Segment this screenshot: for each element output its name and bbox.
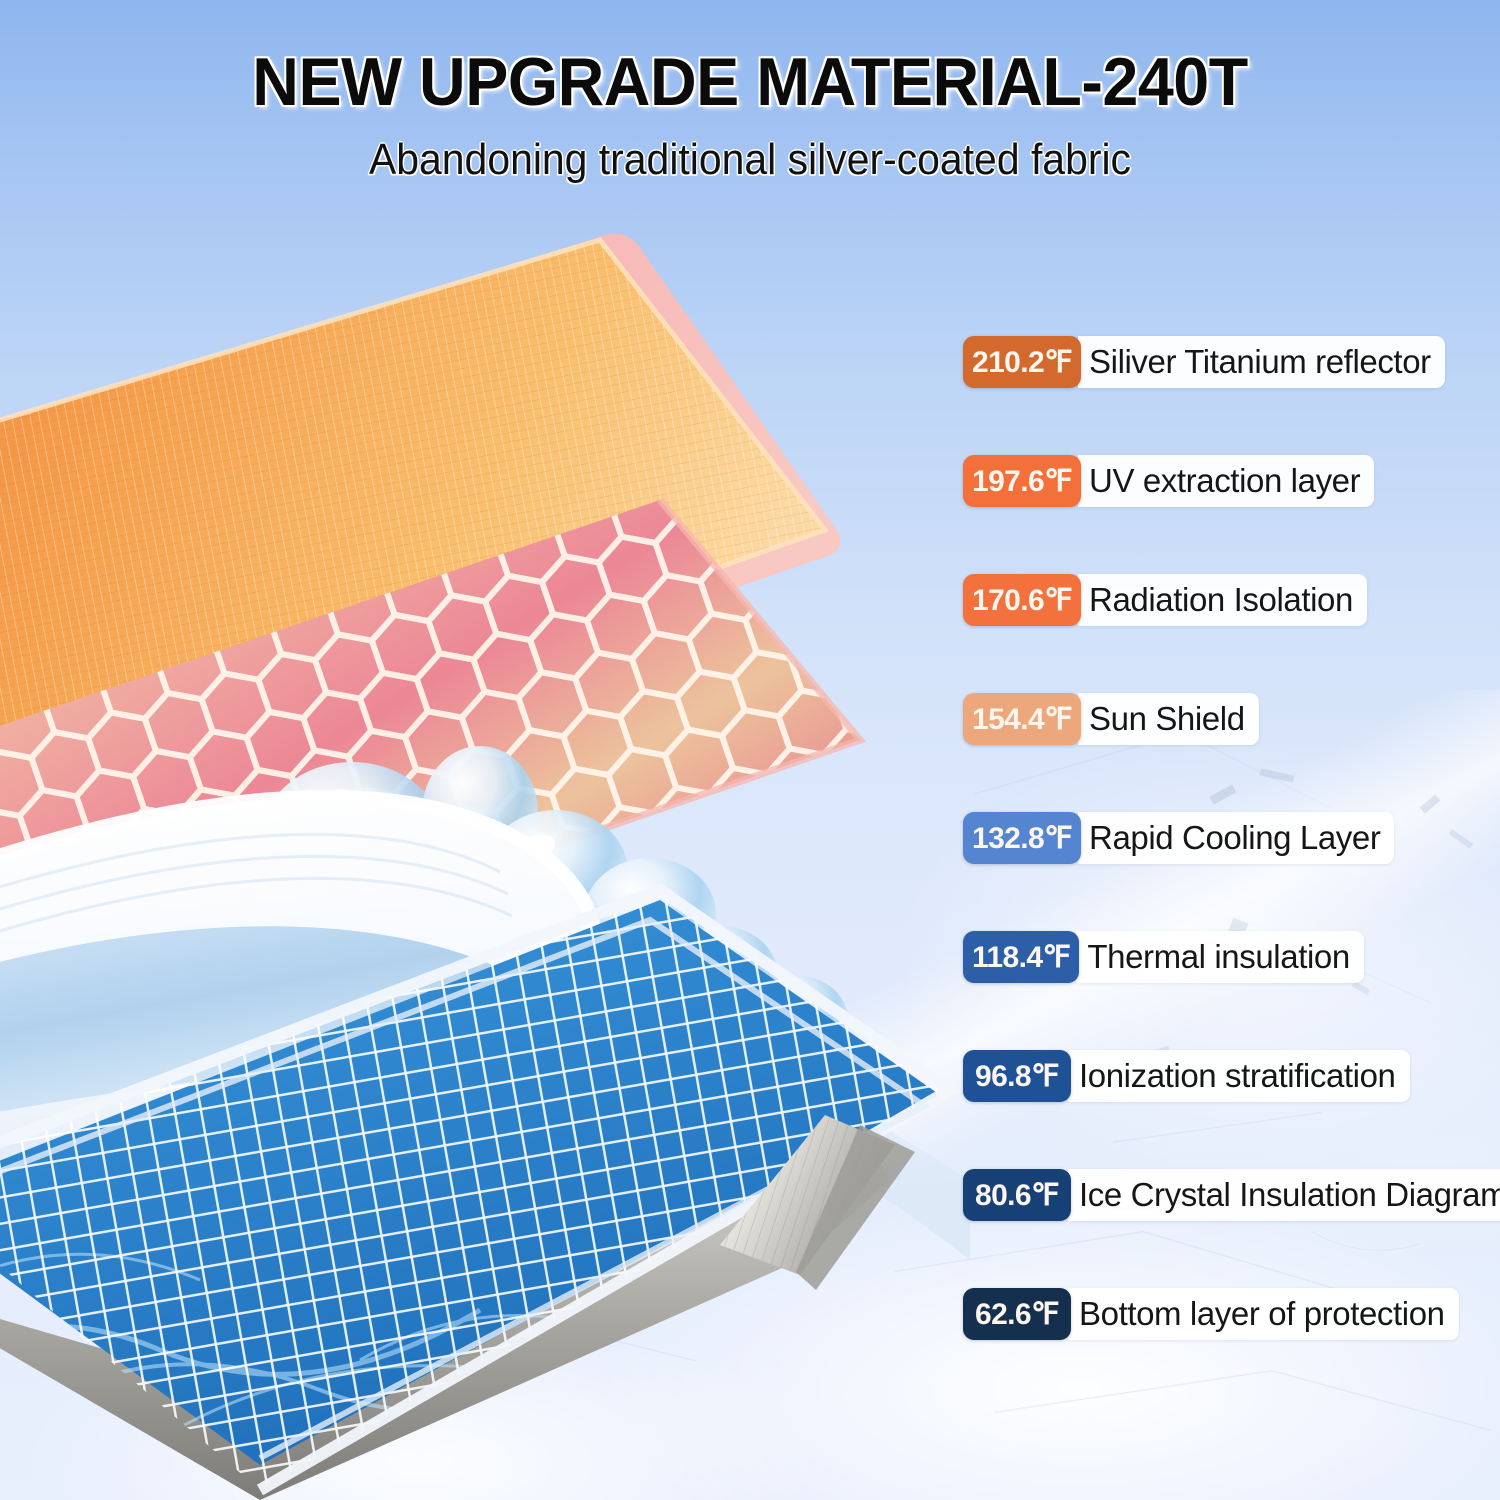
temperature-badge: 210.2℉: [963, 336, 1081, 388]
layer-name-label: UV extraction layer: [1078, 455, 1374, 507]
temperature-badge: 62.6℉: [963, 1288, 1071, 1340]
layer-name-label: Ionization stratification: [1068, 1050, 1410, 1102]
temperature-badge: 170.6℉: [963, 574, 1081, 626]
list-item[interactable]: 210.2℉ Siliver Titanium reflector: [963, 336, 1500, 388]
list-item[interactable]: 170.6℉ Radiation Isolation: [963, 574, 1500, 626]
product-infographic: NEW UPGRADE MATERIAL-240T Abandoning tra…: [0, 0, 1500, 1500]
temperature-badge: 118.4℉: [963, 931, 1079, 983]
list-item[interactable]: 96.8℉ Ionization stratification: [963, 1050, 1500, 1102]
list-item[interactable]: 132.8℉ Rapid Cooling Layer: [963, 812, 1500, 864]
layer-label-list: 210.2℉ Siliver Titanium reflector 197.6℉…: [963, 336, 1500, 1340]
temperature-badge: 96.8℉: [963, 1050, 1071, 1102]
layer-name-label: Rapid Cooling Layer: [1078, 812, 1394, 864]
list-item[interactable]: 62.6℉ Bottom layer of protection: [963, 1288, 1500, 1340]
layer-name-label: Radiation Isolation: [1078, 574, 1367, 626]
layer-name-label: Bottom layer of protection: [1068, 1288, 1459, 1340]
layer-name-label: Sun Shield: [1078, 693, 1259, 745]
page-subtitle: Abandoning traditional silver-coated fab…: [53, 136, 1448, 184]
temperature-badge: 80.6℉: [963, 1169, 1071, 1221]
list-item[interactable]: 80.6℉ Ice Crystal Insulation Diagram: [963, 1169, 1500, 1221]
page-title: NEW UPGRADE MATERIAL-240T: [38, 46, 1463, 118]
temperature-badge: 197.6℉: [963, 455, 1081, 507]
list-item[interactable]: 118.4℉ Thermal insulation: [963, 931, 1500, 983]
list-item[interactable]: 197.6℉ UV extraction layer: [963, 455, 1500, 507]
layer-name-label: Siliver Titanium reflector: [1078, 336, 1445, 388]
temperature-badge: 154.4℉: [963, 693, 1081, 745]
fabric-cross-section-illustration: [0, 200, 970, 1500]
layer-name-label: Thermal insulation: [1076, 931, 1363, 983]
list-item[interactable]: 154.4℉ Sun Shield: [963, 693, 1500, 745]
headline-block: NEW UPGRADE MATERIAL-240T Abandoning tra…: [0, 46, 1500, 184]
temperature-badge: 132.8℉: [963, 812, 1081, 864]
layer-name-label: Ice Crystal Insulation Diagram: [1068, 1169, 1500, 1221]
